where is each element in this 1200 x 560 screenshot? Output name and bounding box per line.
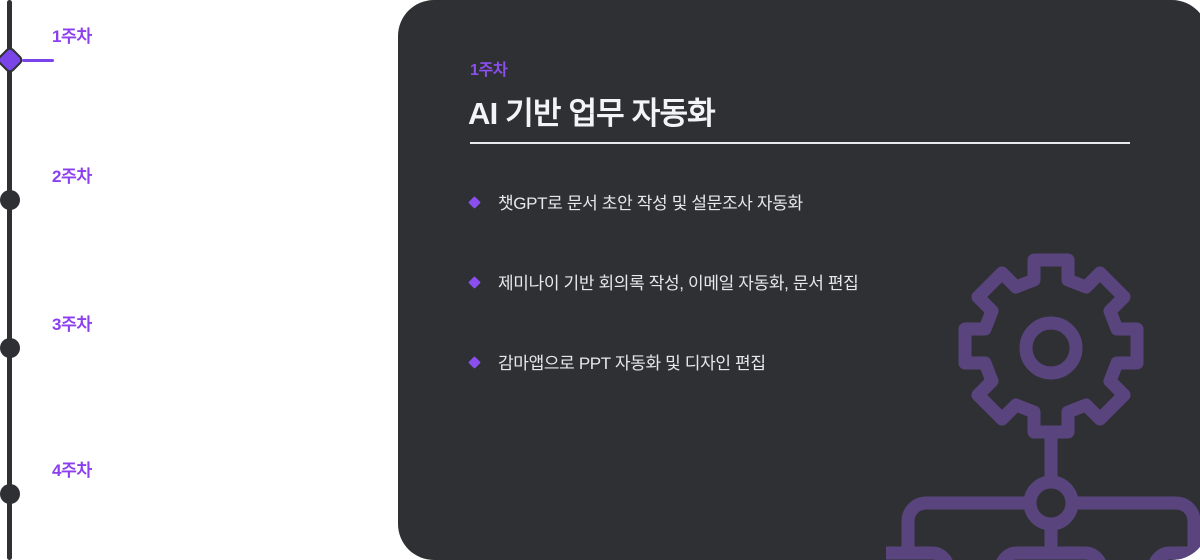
circle-marker-icon: [0, 190, 20, 210]
circle-marker-icon: [0, 338, 20, 358]
list-item-label: 제미나이 기반 회의록 작성, 이메일 자동화, 문서 편집: [498, 269, 858, 294]
slide-root: 1주차 2주차 3주차 4주차: [0, 0, 1200, 560]
list-item: 제미나이 기반 회의록 작성, 이메일 자동화, 문서 편집: [470, 270, 1170, 350]
diamond-bullet-icon: [468, 276, 481, 289]
bullet-list: 챗GPT로 문서 초안 작성 및 설문조사 자동화 제미나이 기반 회의록 작성…: [470, 190, 1170, 430]
circle-marker-icon: [0, 484, 20, 504]
diamond-marker-icon: [0, 48, 22, 71]
list-item-label: 챗GPT로 문서 초안 작성 및 설문조사 자동화: [498, 189, 803, 214]
timeline-label-3: 3주차: [52, 310, 92, 335]
diamond-bullet-icon: [468, 196, 481, 209]
timeline-label-1: 1주차: [52, 22, 92, 47]
timeline-rail: [7, 0, 12, 560]
page-title: AI 기반 업무 자동화: [468, 88, 715, 133]
card-eyebrow: 1주차: [470, 56, 507, 80]
list-item-label: 감마앱으로 PPT 자동화 및 디자인 편집: [498, 349, 766, 374]
diamond-bullet-icon: [468, 356, 481, 369]
timeline-label-4: 4주차: [52, 456, 92, 481]
timeline-panel: 1주차 2주차 3주차 4주차: [0, 0, 398, 560]
content-card: 1주차 AI 기반 업무 자동화 챗GPT로 문서 초안 작성 및 설문조사 자…: [398, 0, 1200, 560]
timeline-label-2: 2주차: [52, 162, 92, 187]
list-item: 챗GPT로 문서 초안 작성 및 설문조사 자동화: [470, 190, 1170, 270]
title-divider: [470, 142, 1130, 144]
list-item: 감마앱으로 PPT 자동화 및 디자인 편집: [470, 350, 1170, 430]
timeline-connector-line: [22, 59, 54, 62]
